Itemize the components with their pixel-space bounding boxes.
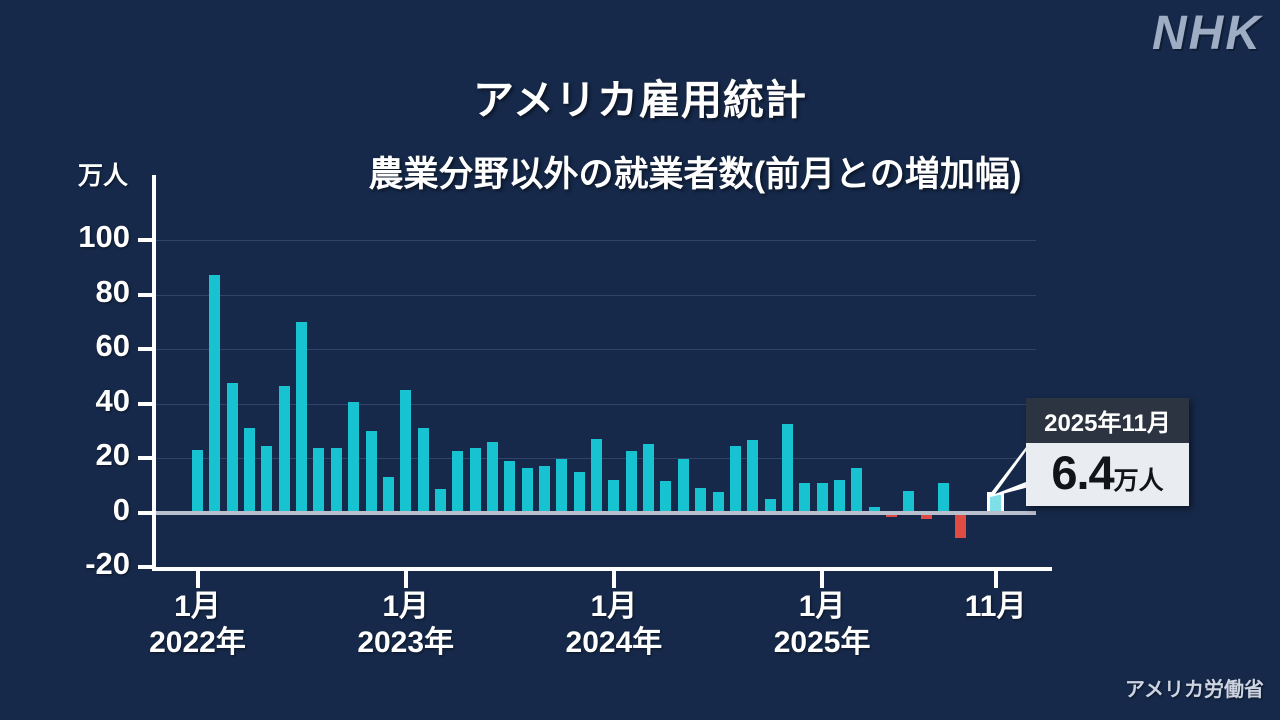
callout-period-label: 2025年11月 <box>1026 398 1189 443</box>
y-axis-unit-label: 万人 <box>78 156 128 192</box>
x-axis-label: 1月2022年 <box>108 589 288 661</box>
bar-positive <box>400 390 411 513</box>
y-axis-tick <box>138 402 154 406</box>
x-axis-tick <box>994 571 998 588</box>
nhk-logo: NHK <box>1152 6 1262 61</box>
bar-positive <box>209 275 220 512</box>
bar-positive <box>227 383 238 512</box>
y-axis-tick <box>138 293 154 297</box>
bar-positive <box>556 459 567 512</box>
bar-positive <box>799 483 810 513</box>
y-axis-tick <box>138 511 154 515</box>
x-axis-tick <box>196 571 200 588</box>
bar-positive <box>713 492 724 512</box>
x-axis-label-month: 1月 <box>591 590 638 623</box>
x-axis-tick <box>820 571 824 588</box>
y-axis-tick-label: -20 <box>40 546 130 582</box>
bar-positive <box>903 491 914 513</box>
page-title: アメリカ雇用統計 <box>0 66 1280 126</box>
bar-positive <box>660 481 671 512</box>
bar-positive <box>574 472 585 513</box>
y-axis-tick-label: 80 <box>40 274 130 310</box>
bar-positive <box>834 480 845 513</box>
bar-positive <box>851 468 862 513</box>
zero-baseline <box>156 511 1036 515</box>
bar-positive <box>418 428 429 512</box>
bar-positive <box>643 444 654 512</box>
y-axis-tick-label: 60 <box>40 328 130 364</box>
bar-positive <box>348 402 359 512</box>
gridline <box>156 240 1036 241</box>
highlight-callout: 2025年11月 6.4万人 <box>1026 398 1189 506</box>
y-axis-tick-label: 100 <box>40 219 130 255</box>
y-axis-tick-label: 40 <box>40 383 130 419</box>
bar-positive <box>539 466 550 512</box>
bar-positive <box>591 439 602 513</box>
bar-positive <box>470 448 481 512</box>
bar-positive <box>817 483 828 513</box>
x-axis-line <box>152 567 1052 571</box>
bar-positive <box>435 489 446 512</box>
x-axis-tick <box>404 571 408 588</box>
bar-positive <box>608 480 619 513</box>
bar-positive <box>730 446 741 513</box>
bar-positive <box>695 488 706 513</box>
x-axis-label: 1月2024年 <box>524 589 704 661</box>
bar-positive <box>261 446 272 513</box>
x-axis-tick <box>612 571 616 588</box>
x-axis-label-month: 1月 <box>382 590 429 623</box>
callout-value-row: 6.4万人 <box>1026 443 1189 506</box>
bar-positive <box>678 459 689 512</box>
y-axis-tick-label: 0 <box>40 492 130 528</box>
bar-positive <box>782 424 793 513</box>
x-axis-label-month: 1月 <box>799 590 846 623</box>
bar-positive <box>626 451 637 512</box>
bar-positive <box>313 448 324 512</box>
x-axis-label: 1月2025年 <box>732 589 912 661</box>
x-axis-label: 11月 <box>906 589 1086 625</box>
x-axis-label-year: 2024年 <box>524 625 704 661</box>
bar-positive <box>279 386 290 513</box>
x-axis-label-month: 1月 <box>174 590 221 623</box>
source-credit: アメリカ労働省 <box>1125 673 1264 702</box>
bar-positive <box>383 477 394 512</box>
y-axis-tick <box>138 238 154 242</box>
x-axis-label-month: 11月 <box>965 590 1027 623</box>
bar-positive <box>192 450 203 513</box>
bar-positive <box>452 451 463 512</box>
x-axis-label-year: 2022年 <box>108 625 288 661</box>
bar-positive <box>747 440 758 512</box>
callout-value: 6.4 <box>1051 446 1113 499</box>
bar-positive <box>938 483 949 513</box>
callout-unit: 万人 <box>1114 467 1164 495</box>
bar-positive <box>522 468 533 513</box>
x-axis-label-year: 2025年 <box>732 625 912 661</box>
bar-positive <box>366 431 377 513</box>
bar-positive <box>296 322 307 513</box>
x-axis-label: 1月2023年 <box>316 589 496 661</box>
bar-positive <box>504 461 515 513</box>
bar-positive <box>331 448 342 512</box>
bar-chart-plot-area <box>152 175 1052 575</box>
bar-positive <box>487 442 498 513</box>
y-axis-tick <box>138 456 154 460</box>
gridline <box>156 295 1036 296</box>
y-axis-tick <box>138 347 154 351</box>
y-axis-tick-label: 20 <box>40 437 130 473</box>
bar-negative <box>955 513 966 539</box>
x-axis-label-year: 2023年 <box>316 625 496 661</box>
bar-positive <box>244 428 255 512</box>
gridline <box>156 349 1036 350</box>
